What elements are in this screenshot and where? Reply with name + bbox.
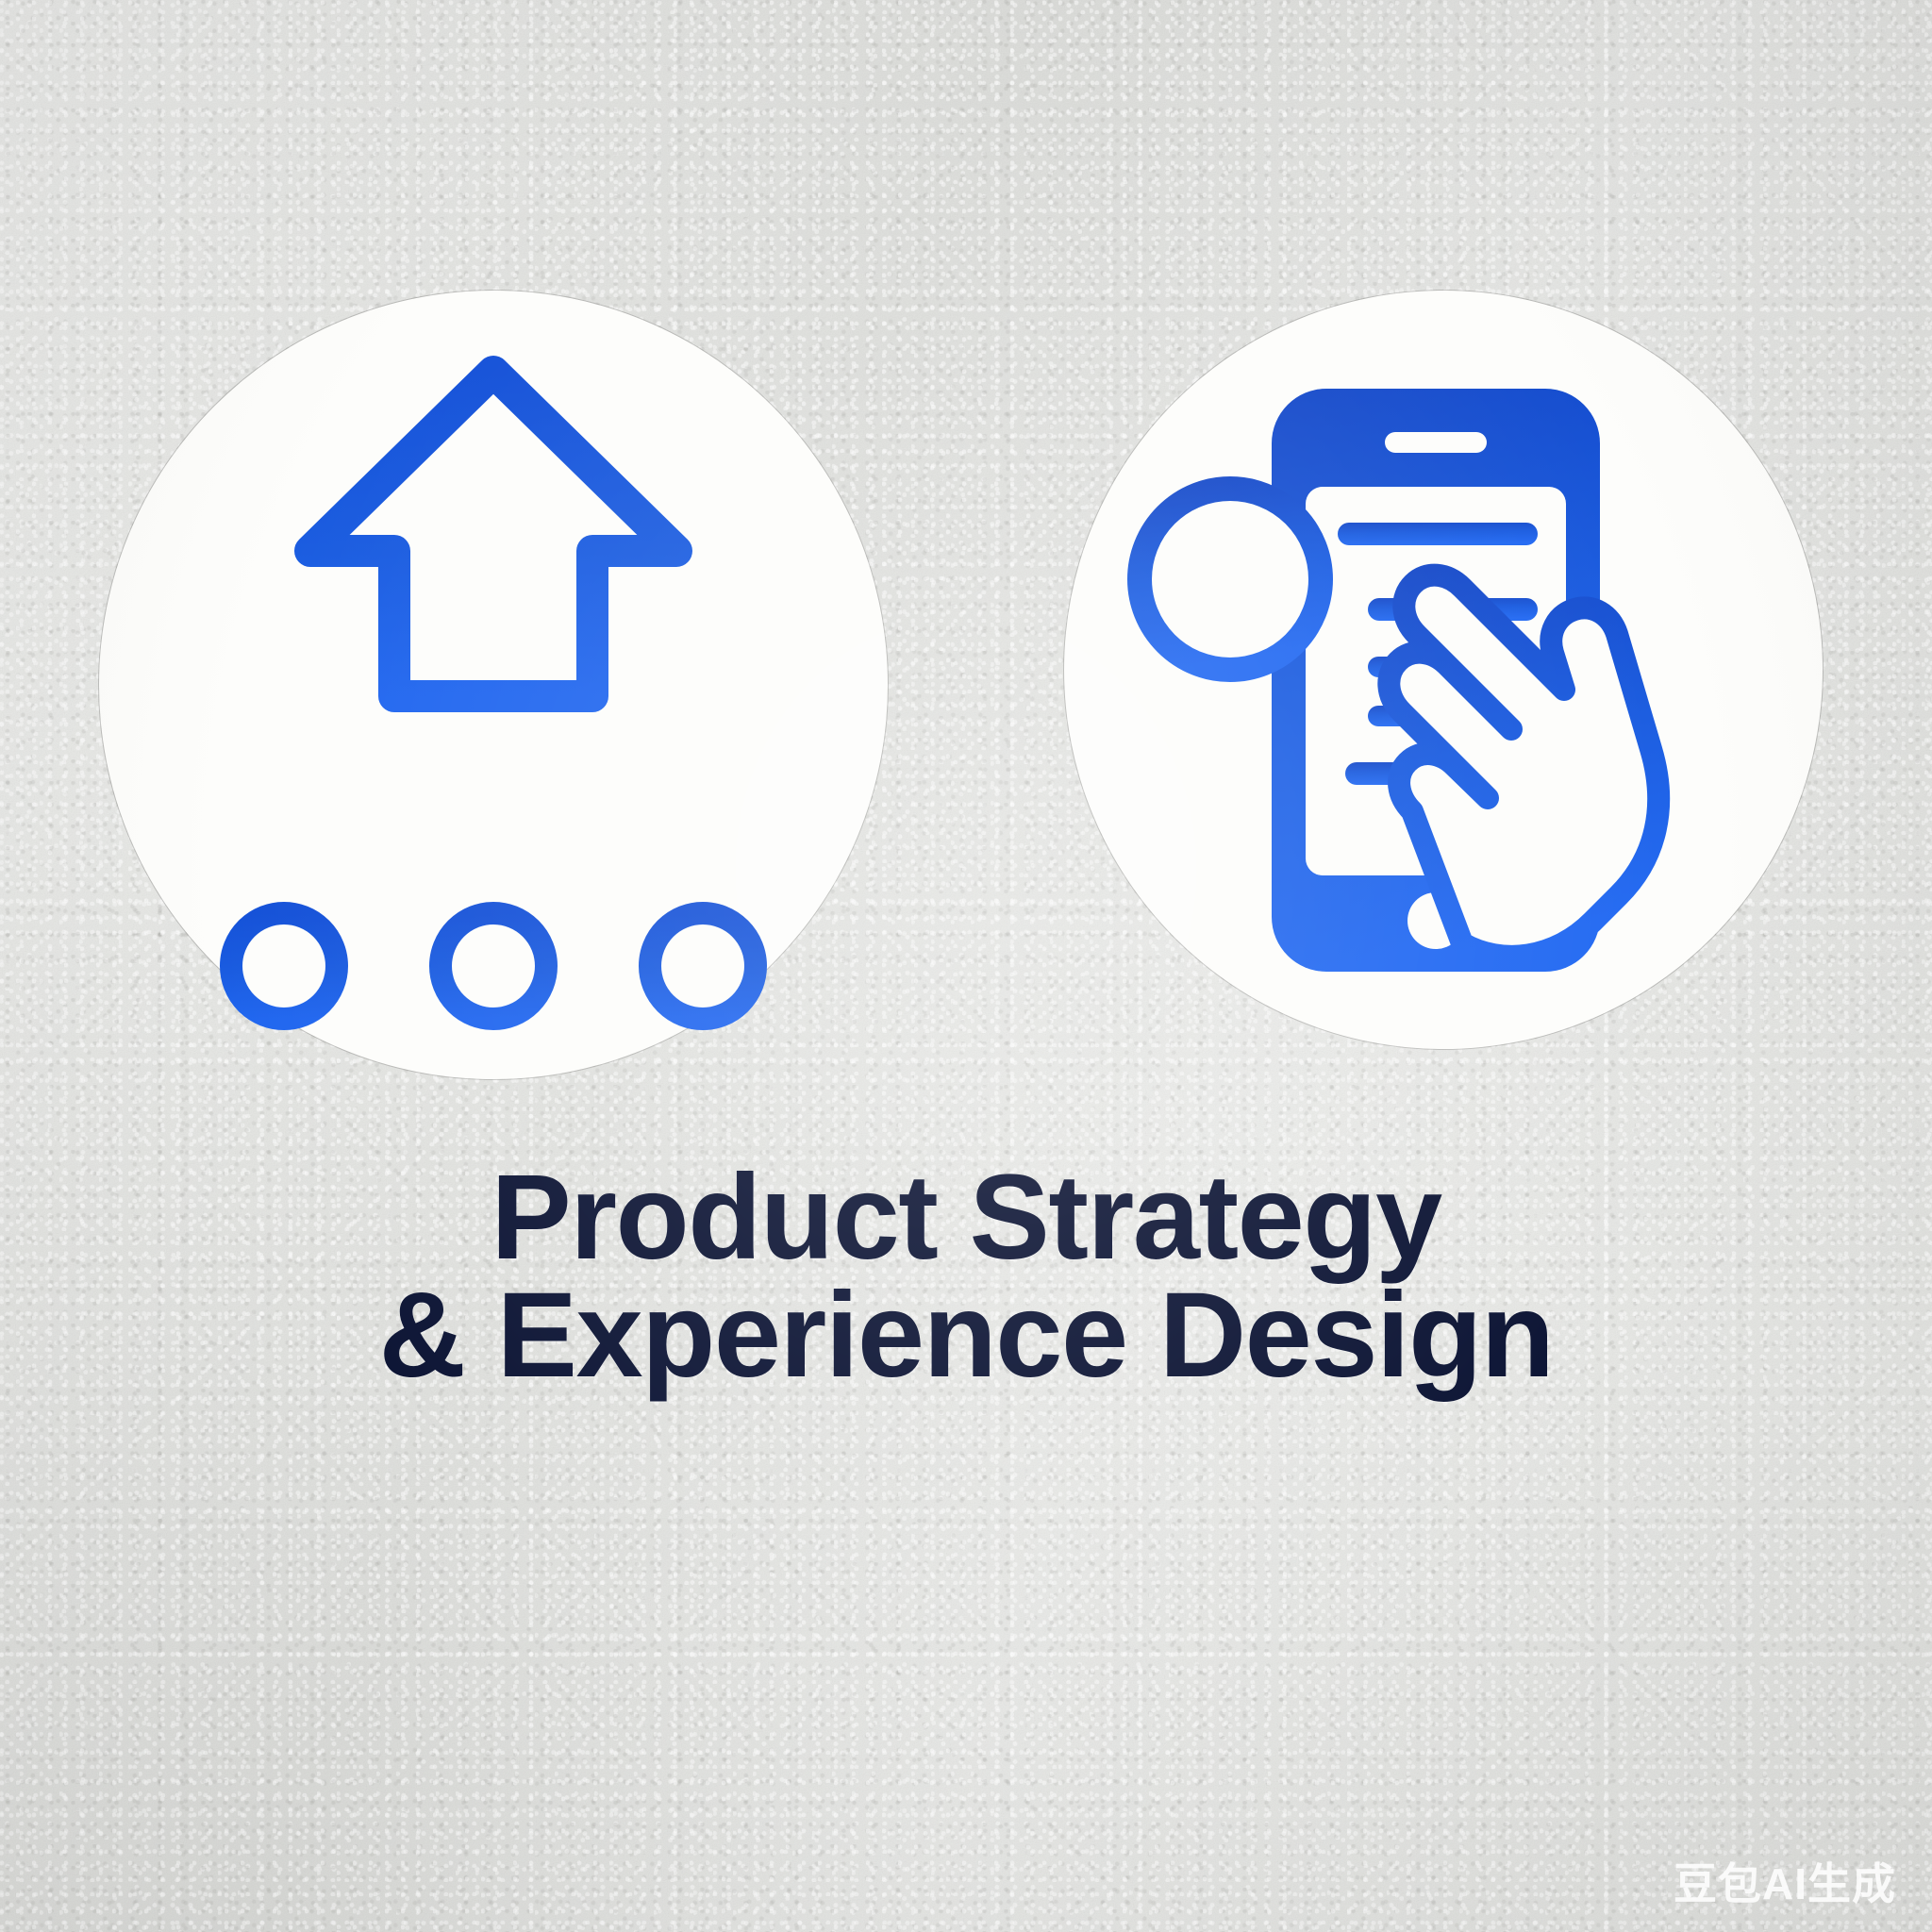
content-line-1	[1338, 523, 1538, 545]
hierarchy-node-right	[650, 913, 756, 1019]
watermark-label: 豆包AI生成	[1674, 1862, 1896, 1906]
hierarchy-node-left	[231, 913, 337, 1019]
page-title: Product Strategy & Experience Design	[0, 1158, 1932, 1395]
mobile-tap-add-icon	[1064, 291, 1823, 1049]
up-arrow-outline	[310, 372, 676, 696]
hierarchy-arrow-icon	[99, 291, 888, 1079]
left-icon-disc[interactable]	[99, 291, 888, 1079]
title-line-1: Product Strategy	[0, 1158, 1932, 1276]
poster-canvas: Product Strategy & Experience Design 豆包A…	[0, 0, 1932, 1932]
add-plus-badge	[1140, 489, 1321, 670]
right-icon-disc[interactable]	[1064, 291, 1823, 1049]
hierarchy-node-center	[441, 913, 546, 1019]
title-line-2: & Experience Design	[0, 1276, 1932, 1394]
phone-speaker-slot	[1385, 432, 1487, 453]
